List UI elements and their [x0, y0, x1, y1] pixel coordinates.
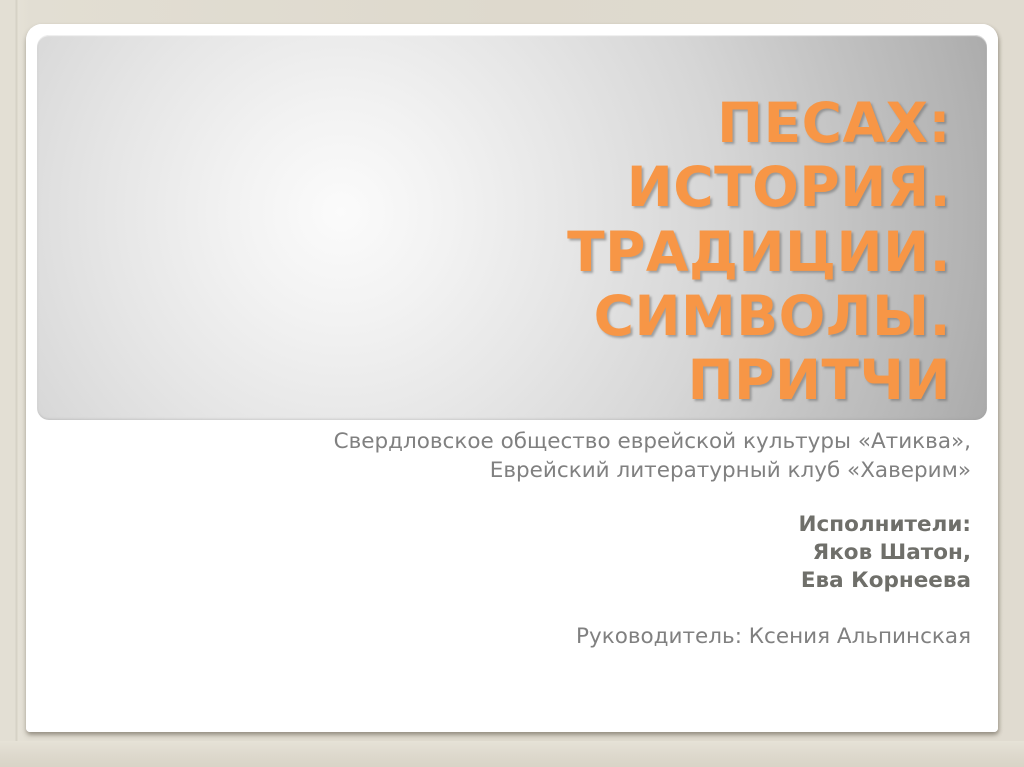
subtitle-area: Свердловское общество еврейской культуры…	[37, 424, 987, 724]
performers-text: Исполнители: Яков Шатон, Ева Корнеева	[37, 485, 971, 595]
slide-frame: ПЕСАХ: ИСТОРИЯ. ТРАДИЦИИ. СИМВОЛЫ. ПРИТЧ…	[26, 24, 998, 732]
slide-title: ПЕСАХ: ИСТОРИЯ. ТРАДИЦИИ. СИМВОЛЫ. ПРИТЧ…	[231, 91, 951, 413]
title-banner: ПЕСАХ: ИСТОРИЯ. ТРАДИЦИИ. СИМВОЛЫ. ПРИТЧ…	[37, 35, 987, 420]
slide-canvas: ПЕСАХ: ИСТОРИЯ. ТРАДИЦИИ. СИМВОЛЫ. ПРИТЧ…	[26, 24, 998, 732]
supervisor-text: Руководитель: Ксения Альпинская	[37, 595, 971, 651]
organization-text: Свердловское общество еврейской культуры…	[37, 424, 971, 485]
